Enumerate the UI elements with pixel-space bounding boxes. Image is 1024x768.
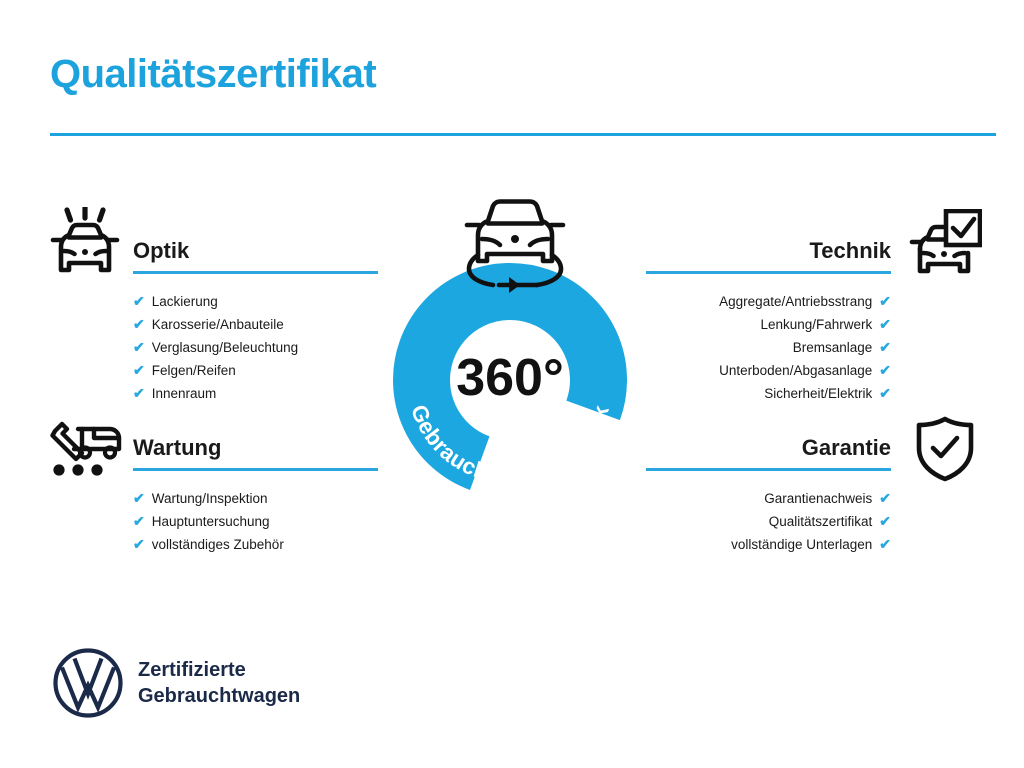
list-item-label: Hauptuntersuchung (152, 510, 270, 533)
list-item: ✔Verglasung/Beleuchtung (133, 336, 378, 359)
vw-certified-logo: Zertifizierte Gebrauchtwagen (52, 647, 300, 719)
check-icon: ✔ (133, 487, 145, 510)
list-item: ✔vollständiges Zubehör (133, 533, 378, 556)
list-item-label: Karosserie/Anbauteile (152, 313, 284, 336)
badge-center-label: 360° (456, 349, 564, 407)
vw-logo-icon (52, 647, 124, 719)
check-icon: ✔ (879, 313, 891, 336)
section-garantie-title: Garantie (646, 433, 891, 463)
section-wartung-list: ✔Wartung/Inspektion ✔Hauptuntersuchung ✔… (133, 487, 378, 556)
list-item-label: Garantienachweis (764, 487, 872, 510)
section-garantie-list: Garantienachweis✔ Qualitätszertifikat✔ v… (646, 487, 891, 556)
section-wartung-divider (133, 468, 378, 471)
section-optik-divider (133, 271, 378, 274)
check-icon: ✔ (879, 487, 891, 510)
section-wartung-title: Wartung (133, 433, 378, 463)
list-item: Garantienachweis✔ (646, 487, 891, 510)
list-item: ✔Felgen/Reifen (133, 359, 378, 382)
car-headlights-icon (48, 207, 122, 279)
vw-logo-text: Zertifizierte Gebrauchtwagen (138, 657, 300, 709)
list-item: ✔Karosserie/Anbauteile (133, 313, 378, 336)
check-icon: ✔ (133, 336, 145, 359)
list-item: ✔Wartung/Inspektion (133, 487, 378, 510)
list-item-label: vollständige Unterlagen (731, 533, 872, 556)
shield-check-icon (914, 416, 976, 482)
list-item: Lenkung/Fahrwerk✔ (646, 313, 891, 336)
list-item: ✔Hauptuntersuchung (133, 510, 378, 533)
car-lift-wrench-icon (48, 417, 126, 479)
list-item-label: Lackierung (152, 290, 218, 313)
vw-logo-text-line2: Gebrauchtwagen (138, 683, 300, 709)
check-icon: ✔ (133, 382, 145, 405)
list-item-label: Felgen/Reifen (152, 359, 236, 382)
check-icon: ✔ (133, 533, 145, 556)
check-icon: ✔ (133, 510, 145, 533)
list-item-label: Unterboden/Abgasanlage (719, 359, 872, 382)
list-item: Aggregate/Antriebsstrang✔ (646, 290, 891, 313)
list-item-label: Innenraum (152, 382, 217, 405)
list-item: vollständige Unterlagen✔ (646, 533, 891, 556)
car-checkbox-icon (908, 209, 982, 277)
section-technik: Technik Aggregate/Antriebsstrang✔ Lenkun… (646, 236, 891, 405)
list-item: ✔Innenraum (133, 382, 378, 405)
check-icon: ✔ (879, 290, 891, 313)
list-item: Unterboden/Abgasanlage✔ (646, 359, 891, 382)
check-icon: ✔ (879, 336, 891, 359)
check-icon: ✔ (879, 382, 891, 405)
section-technik-divider (646, 271, 891, 274)
vw-logo-text-line1: Zertifizierte (138, 657, 300, 683)
check-icon: ✔ (879, 533, 891, 556)
list-item: Sicherheit/Elektrik✔ (646, 382, 891, 405)
section-optik-list: ✔Lackierung ✔Karosserie/Anbauteile ✔Verg… (133, 290, 378, 405)
car-rotate-icon (455, 193, 575, 297)
list-item-label: Qualitätszertifikat (769, 510, 873, 533)
page-title: Qualitätszertifikat (50, 52, 376, 97)
check-icon: ✔ (879, 510, 891, 533)
section-technik-header: Technik (646, 236, 891, 274)
list-item: Bremsanlage✔ (646, 336, 891, 359)
check-icon: ✔ (133, 359, 145, 382)
list-item-label: vollständiges Zubehör (152, 533, 284, 556)
check-icon: ✔ (133, 290, 145, 313)
section-optik: Optik ✔Lackierung ✔Karosserie/Anbauteile… (133, 236, 378, 405)
section-wartung: Wartung ✔Wartung/Inspektion ✔Hauptunters… (133, 433, 378, 556)
section-optik-title: Optik (133, 236, 378, 266)
list-item-label: Aggregate/Antriebsstrang (719, 290, 872, 313)
section-garantie: Garantie Garantienachweis✔ Qualitätszert… (646, 433, 891, 556)
section-technik-title: Technik (646, 236, 891, 266)
certificate-page: Qualitätszertifikat Optik (0, 0, 1024, 768)
list-item-label: Bremsanlage (793, 336, 873, 359)
title-divider (50, 133, 996, 136)
check-icon: ✔ (879, 359, 891, 382)
section-wartung-header: Wartung (133, 433, 378, 471)
check-icon: ✔ (133, 313, 145, 336)
list-item: Qualitätszertifikat✔ (646, 510, 891, 533)
list-item-label: Lenkung/Fahrwerk (760, 313, 872, 336)
section-garantie-divider (646, 468, 891, 471)
list-item-label: Sicherheit/Elektrik (764, 382, 872, 405)
section-garantie-header: Garantie (646, 433, 891, 471)
list-item-label: Verglasung/Beleuchtung (152, 336, 298, 359)
section-technik-list: Aggregate/Antriebsstrang✔ Lenkung/Fahrwe… (646, 290, 891, 405)
list-item-label: Wartung/Inspektion (152, 487, 268, 510)
list-item: ✔Lackierung (133, 290, 378, 313)
section-optik-header: Optik (133, 236, 378, 274)
